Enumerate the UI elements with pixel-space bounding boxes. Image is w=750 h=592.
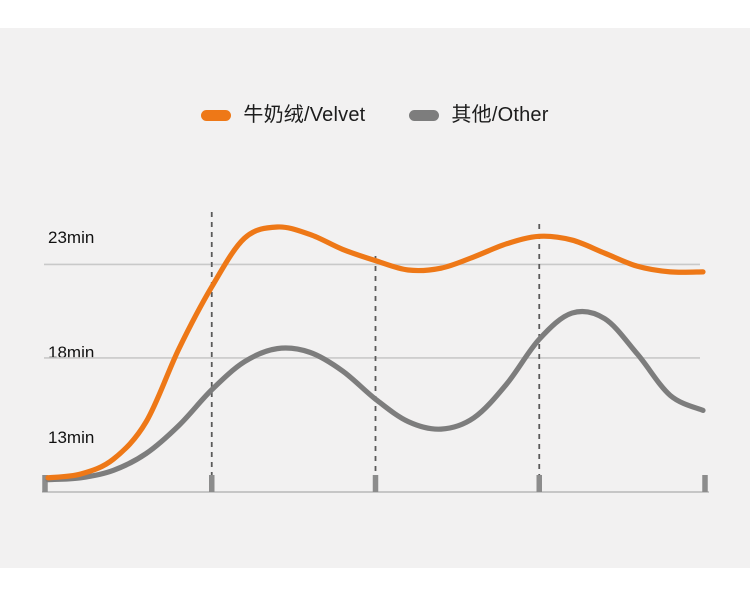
chart-page: 牛奶绒/Velvet 其他/Other 23min 18min 13min <box>0 0 750 592</box>
chart-plot-area <box>0 0 750 592</box>
chart-gridlines <box>44 264 700 358</box>
chart-x-axis-ticks <box>45 475 705 492</box>
